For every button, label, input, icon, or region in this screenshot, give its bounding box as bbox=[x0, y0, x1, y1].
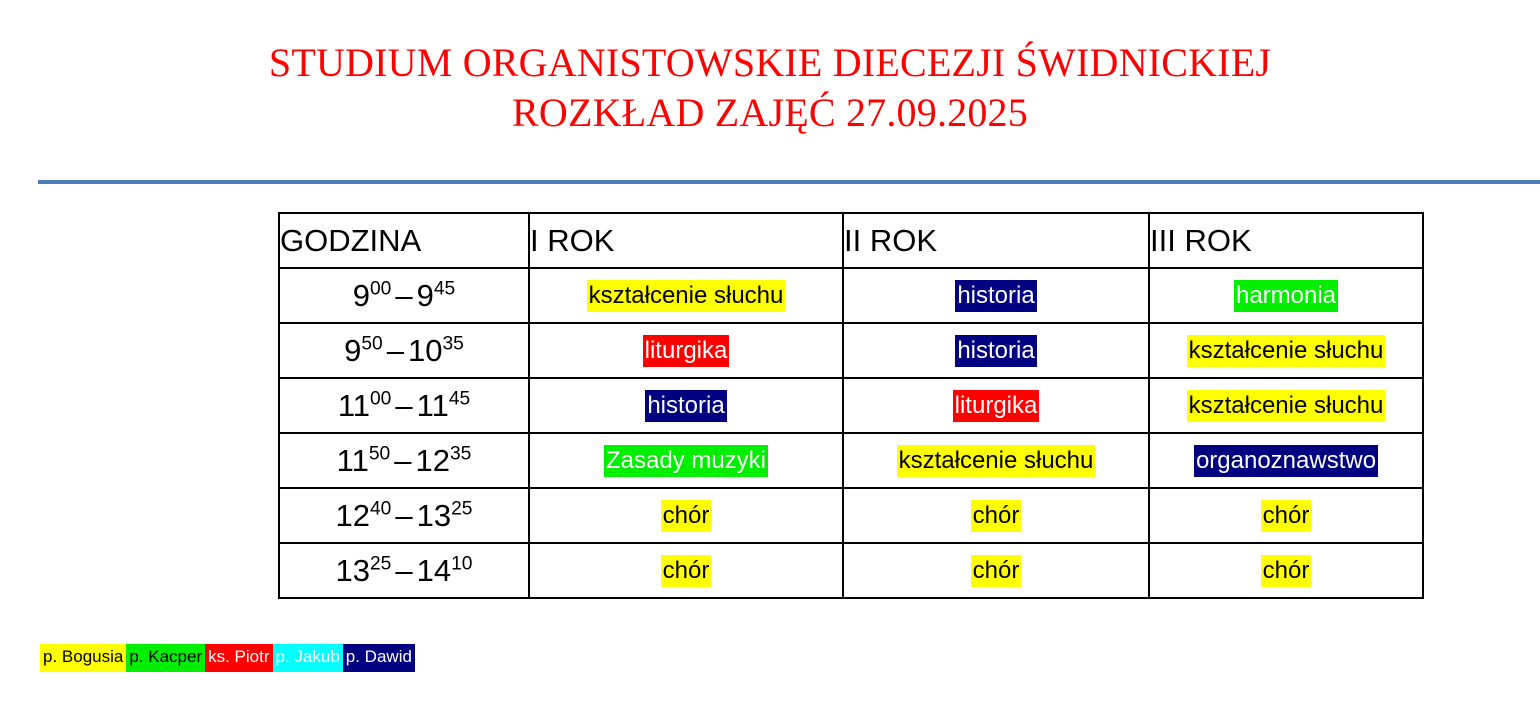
subject-cell: chór bbox=[529, 488, 843, 543]
subject-cell: historia bbox=[843, 268, 1149, 323]
subject-label: chór bbox=[971, 500, 1022, 532]
legend-item: ks. Piotr bbox=[205, 644, 272, 672]
time-slot-cell: 1240–1325 bbox=[279, 488, 529, 543]
subject-cell: organoznawstwo bbox=[1149, 433, 1423, 488]
subject-cell: kształcenie słuchu bbox=[843, 433, 1149, 488]
subject-label: chór bbox=[1261, 500, 1312, 532]
teacher-color-legend: p. Bogusiap. Kacperks. Piotrp. Jakubp. D… bbox=[40, 644, 415, 672]
subject-label: historia bbox=[955, 335, 1036, 367]
subject-cell: liturgika bbox=[529, 323, 843, 378]
table-header-row: GODZINA I ROK II ROK III ROK bbox=[279, 213, 1423, 268]
subject-label: kształcenie słuchu bbox=[1187, 335, 1386, 367]
subject-cell: Zasady muzyki bbox=[529, 433, 843, 488]
subject-label: kształcenie słuchu bbox=[897, 445, 1096, 477]
subject-label: chór bbox=[661, 555, 712, 587]
subject-cell: chór bbox=[1149, 488, 1423, 543]
schedule-table: GODZINA I ROK II ROK III ROK 900–945kszt… bbox=[278, 212, 1424, 599]
subject-label: kształcenie słuchu bbox=[1187, 390, 1386, 422]
time-slot-cell: 1100–1145 bbox=[279, 378, 529, 433]
subject-cell: kształcenie słuchu bbox=[1149, 378, 1423, 433]
time-slot-cell: 900–945 bbox=[279, 268, 529, 323]
table-row: 900–945kształcenie słuchuhistoriaharmoni… bbox=[279, 268, 1423, 323]
horizontal-divider bbox=[38, 180, 1540, 184]
table-row: 1150–1235Zasady muzykikształcenie słuchu… bbox=[279, 433, 1423, 488]
legend-item: p. Kacper bbox=[126, 644, 205, 672]
time-slot-cell: 950–1035 bbox=[279, 323, 529, 378]
subject-cell: liturgika bbox=[843, 378, 1149, 433]
page-title-line-2: ROZKŁAD ZAJĘĆ 27.09.2025 bbox=[0, 88, 1540, 138]
subject-cell: chór bbox=[843, 488, 1149, 543]
time-slot-cell: 1325–1410 bbox=[279, 543, 529, 598]
legend-item: p. Bogusia bbox=[40, 644, 126, 672]
legend-item: p. Jakub bbox=[273, 644, 343, 672]
subject-cell: chór bbox=[1149, 543, 1423, 598]
subject-label: organoznawstwo bbox=[1194, 445, 1378, 477]
table-row: 1325–1410chórchórchór bbox=[279, 543, 1423, 598]
subject-cell: historia bbox=[843, 323, 1149, 378]
subject-cell: chór bbox=[843, 543, 1149, 598]
column-header-rok-1: I ROK bbox=[529, 213, 843, 268]
subject-label: chór bbox=[1261, 555, 1312, 587]
table-row: 1240–1325chórchórchór bbox=[279, 488, 1423, 543]
column-header-rok-2: II ROK bbox=[843, 213, 1149, 268]
subject-cell: chór bbox=[529, 543, 843, 598]
subject-cell: historia bbox=[529, 378, 843, 433]
subject-label: historia bbox=[645, 390, 726, 422]
subject-label: kształcenie słuchu bbox=[587, 280, 786, 312]
page-title: STUDIUM ORGANISTOWSKIE DIECEZJI ŚWIDNICK… bbox=[0, 38, 1540, 138]
subject-label: chór bbox=[971, 555, 1022, 587]
subject-label: liturgika bbox=[953, 390, 1040, 422]
subject-label: historia bbox=[955, 280, 1036, 312]
table-row: 950–1035liturgikahistoriakształcenie słu… bbox=[279, 323, 1423, 378]
subject-cell: harmonia bbox=[1149, 268, 1423, 323]
subject-label: Zasady muzyki bbox=[604, 445, 768, 477]
subject-cell: kształcenie słuchu bbox=[529, 268, 843, 323]
time-slot-cell: 1150–1235 bbox=[279, 433, 529, 488]
subject-label: liturgika bbox=[643, 335, 730, 367]
subject-cell: kształcenie słuchu bbox=[1149, 323, 1423, 378]
column-header-godzina: GODZINA bbox=[279, 213, 529, 268]
column-header-rok-3: III ROK bbox=[1149, 213, 1423, 268]
subject-label: chór bbox=[661, 500, 712, 532]
page-title-line-1: STUDIUM ORGANISTOWSKIE DIECEZJI ŚWIDNICK… bbox=[0, 38, 1540, 88]
table-row: 1100–1145historialiturgikakształcenie sł… bbox=[279, 378, 1423, 433]
legend-item: p. Dawid bbox=[343, 644, 415, 672]
subject-label: harmonia bbox=[1234, 280, 1338, 312]
